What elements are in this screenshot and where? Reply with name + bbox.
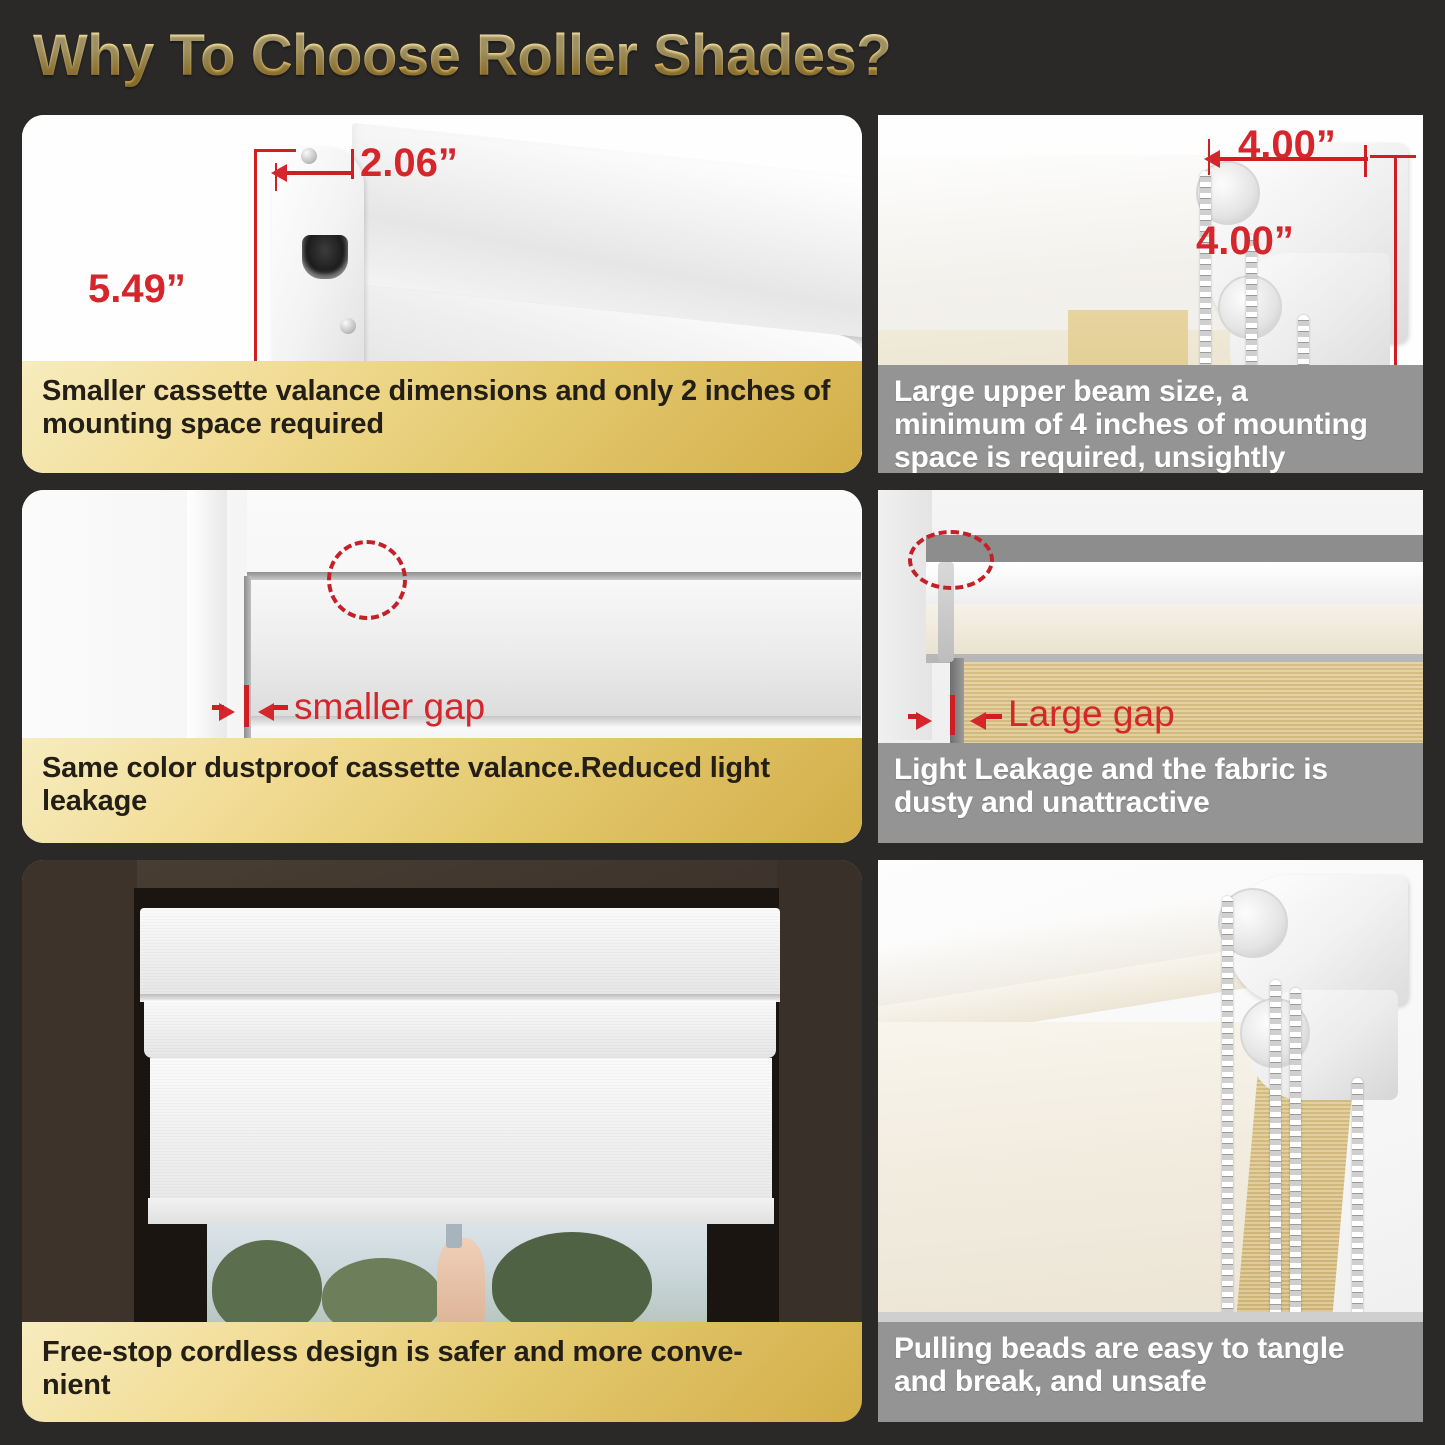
dimension-width-label: 4.00” xyxy=(1238,123,1336,168)
beam-roller-tube xyxy=(926,562,1423,610)
bead-chain xyxy=(1290,988,1301,1320)
caption-text: Light Leakage and the fabric is dusty an… xyxy=(894,753,1328,819)
screw-icon xyxy=(301,148,317,164)
room-wall-right xyxy=(777,860,862,1330)
panel-middle-left: smaller gap Same color dustproof cassett… xyxy=(22,490,862,843)
caption-bottom-left: Free-stop cordless design is safer and m… xyxy=(22,1322,862,1422)
panel-bottom-left: Free-stop cordless design is safer and m… xyxy=(22,860,862,1422)
caption-text: Smaller cassette valance dimensions and … xyxy=(42,375,842,441)
screw-icon xyxy=(340,318,356,334)
caption-top-left: Smaller cassette valance dimensions and … xyxy=(22,361,862,473)
callout-circle xyxy=(908,530,994,590)
panel-bottom-right: Pulling beads are easy to tangle and bre… xyxy=(878,860,1423,1422)
gap-arrow-left-icon xyxy=(258,703,274,721)
dimension-height-label: 4.00” xyxy=(1196,219,1294,264)
dim-tick-top xyxy=(254,149,296,152)
dim-tick-top xyxy=(1370,155,1416,158)
gap-arrow-shaft xyxy=(274,705,288,710)
bead-chain xyxy=(1270,980,1281,1320)
caption-bottom-right: Pulling beads are easy to tangle and bre… xyxy=(878,1322,1423,1422)
panel-top-right: 4.00” 4.00” Large upper beam size, a min… xyxy=(878,115,1423,473)
bottom-rail xyxy=(148,1198,774,1224)
panel-middle-right: Large gap Light Leakage and the fabric i… xyxy=(878,490,1423,843)
panel-top-left: 2.06” 5.49” Smaller cassette valance dim… xyxy=(22,115,862,473)
gap-arrow-shaft xyxy=(212,705,224,710)
shade-fabric-front xyxy=(878,1022,1260,1322)
bead-chain xyxy=(1352,1078,1363,1320)
gap-marker xyxy=(950,695,955,735)
tree-foliage xyxy=(212,1240,322,1335)
caption-text: Same color dustproof cassette valance.Re… xyxy=(42,752,842,818)
dim-tick-right xyxy=(351,149,354,179)
caption-text: Large upper beam size, a minimum of 4 in… xyxy=(894,375,1368,473)
infographic-root: Why To Choose Roller Shades? 2.06” 5. xyxy=(0,0,1445,1445)
hand xyxy=(437,1238,485,1330)
caption-top-right: Large upper beam size, a minimum of 4 in… xyxy=(878,365,1423,473)
valance-lower-lip xyxy=(144,1000,776,1058)
caption-middle-right: Light Leakage and the fabric is dusty an… xyxy=(878,743,1423,843)
gap-callout-label: smaller gap xyxy=(294,686,485,728)
cassette-valance xyxy=(140,908,780,998)
callout-circle xyxy=(327,540,407,620)
caption-text: Pulling beads are easy to tangle and bre… xyxy=(894,1332,1344,1398)
dim-arrow-left-icon xyxy=(271,164,287,182)
gap-callout-label: Large gap xyxy=(1008,693,1175,735)
gap-arrow-left-icon xyxy=(970,712,986,730)
gap-marker xyxy=(244,685,249,727)
page-title: Why To Choose Roller Shades? xyxy=(33,22,891,89)
dim-tick-right xyxy=(1364,145,1367,177)
caption-middle-left: Same color dustproof cassette valance.Re… xyxy=(22,738,862,843)
beam-fabric-roll xyxy=(926,604,1423,656)
pull-handle xyxy=(446,1220,462,1248)
dimension-width-label: 2.06” xyxy=(360,141,458,186)
dimension-height-label: 5.49” xyxy=(88,267,186,312)
header: Why To Choose Roller Shades? xyxy=(0,0,1445,110)
caption-text: Free-stop cordless design is safer and m… xyxy=(42,1336,743,1402)
dim-arrow-left-icon xyxy=(1204,150,1220,168)
wall-edge xyxy=(878,490,932,740)
valance-slot-opening xyxy=(302,235,348,279)
room-wall-left xyxy=(22,860,137,1330)
gap-arrow-shaft xyxy=(986,714,1002,719)
bead-chain xyxy=(1222,896,1233,1316)
gap-arrow-shaft xyxy=(908,714,920,719)
surface-shadow xyxy=(878,1312,1423,1322)
